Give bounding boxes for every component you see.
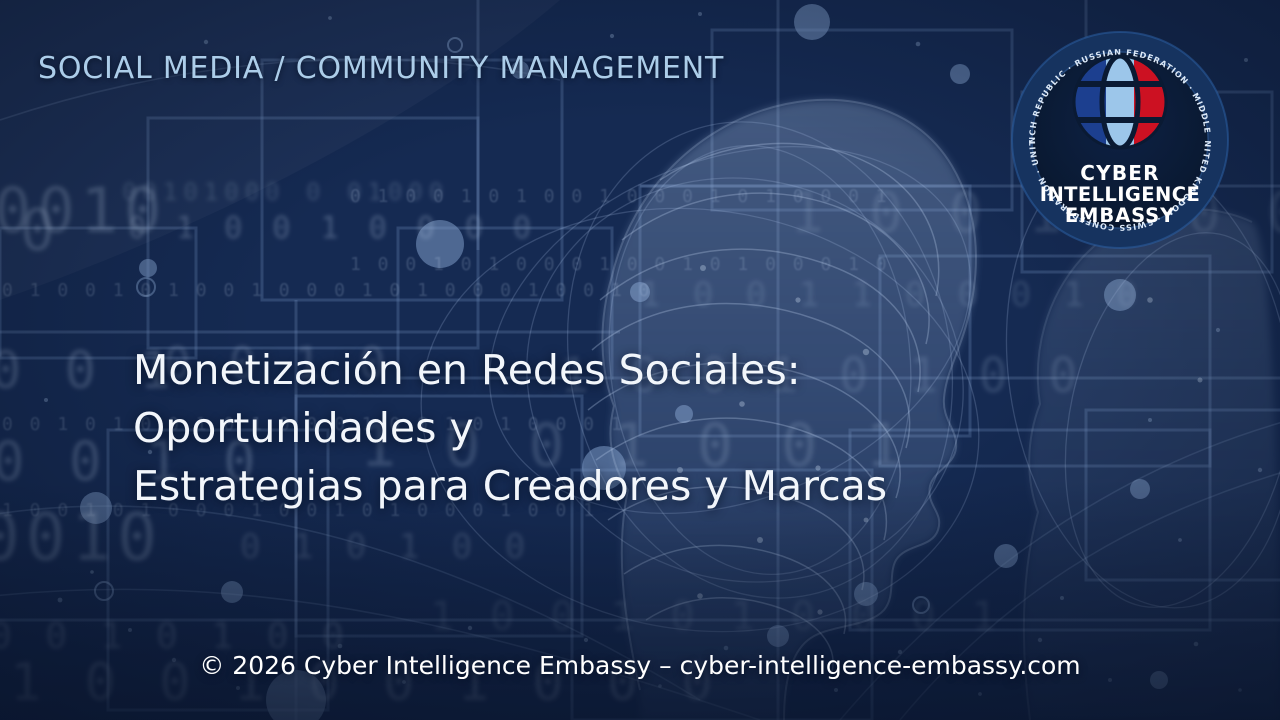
background-bottom-shade xyxy=(0,480,1280,720)
badge-name-line-2: INTELLIGENCE xyxy=(1040,183,1200,206)
badge-name-line-1: CYBER xyxy=(1080,161,1159,185)
badge-name-line-3: EMBASSY xyxy=(1065,204,1175,227)
copyright-footer: © 2026 Cyber Intelligence Embassy – cybe… xyxy=(0,651,1280,680)
slide-canvas: 0010 0 1 0 0 1 0 0 0 0 0 00101000 0 0100… xyxy=(0,0,1280,720)
slide-title-line-2: Estrategias para Creadores y Marcas xyxy=(133,457,1093,515)
slide-category-label: SOCIAL MEDIA / COMMUNITY MANAGEMENT xyxy=(38,51,724,86)
slide-title: Monetización en Redes Sociales: Oportuni… xyxy=(133,341,1093,515)
cyber-intelligence-embassy-logo[interactable]: EUROPEAN UNION · FRENCH REPUBLIC · RUSSI… xyxy=(1008,28,1232,252)
slide-title-line-1: Monetización en Redes Sociales: Oportuni… xyxy=(133,346,801,452)
